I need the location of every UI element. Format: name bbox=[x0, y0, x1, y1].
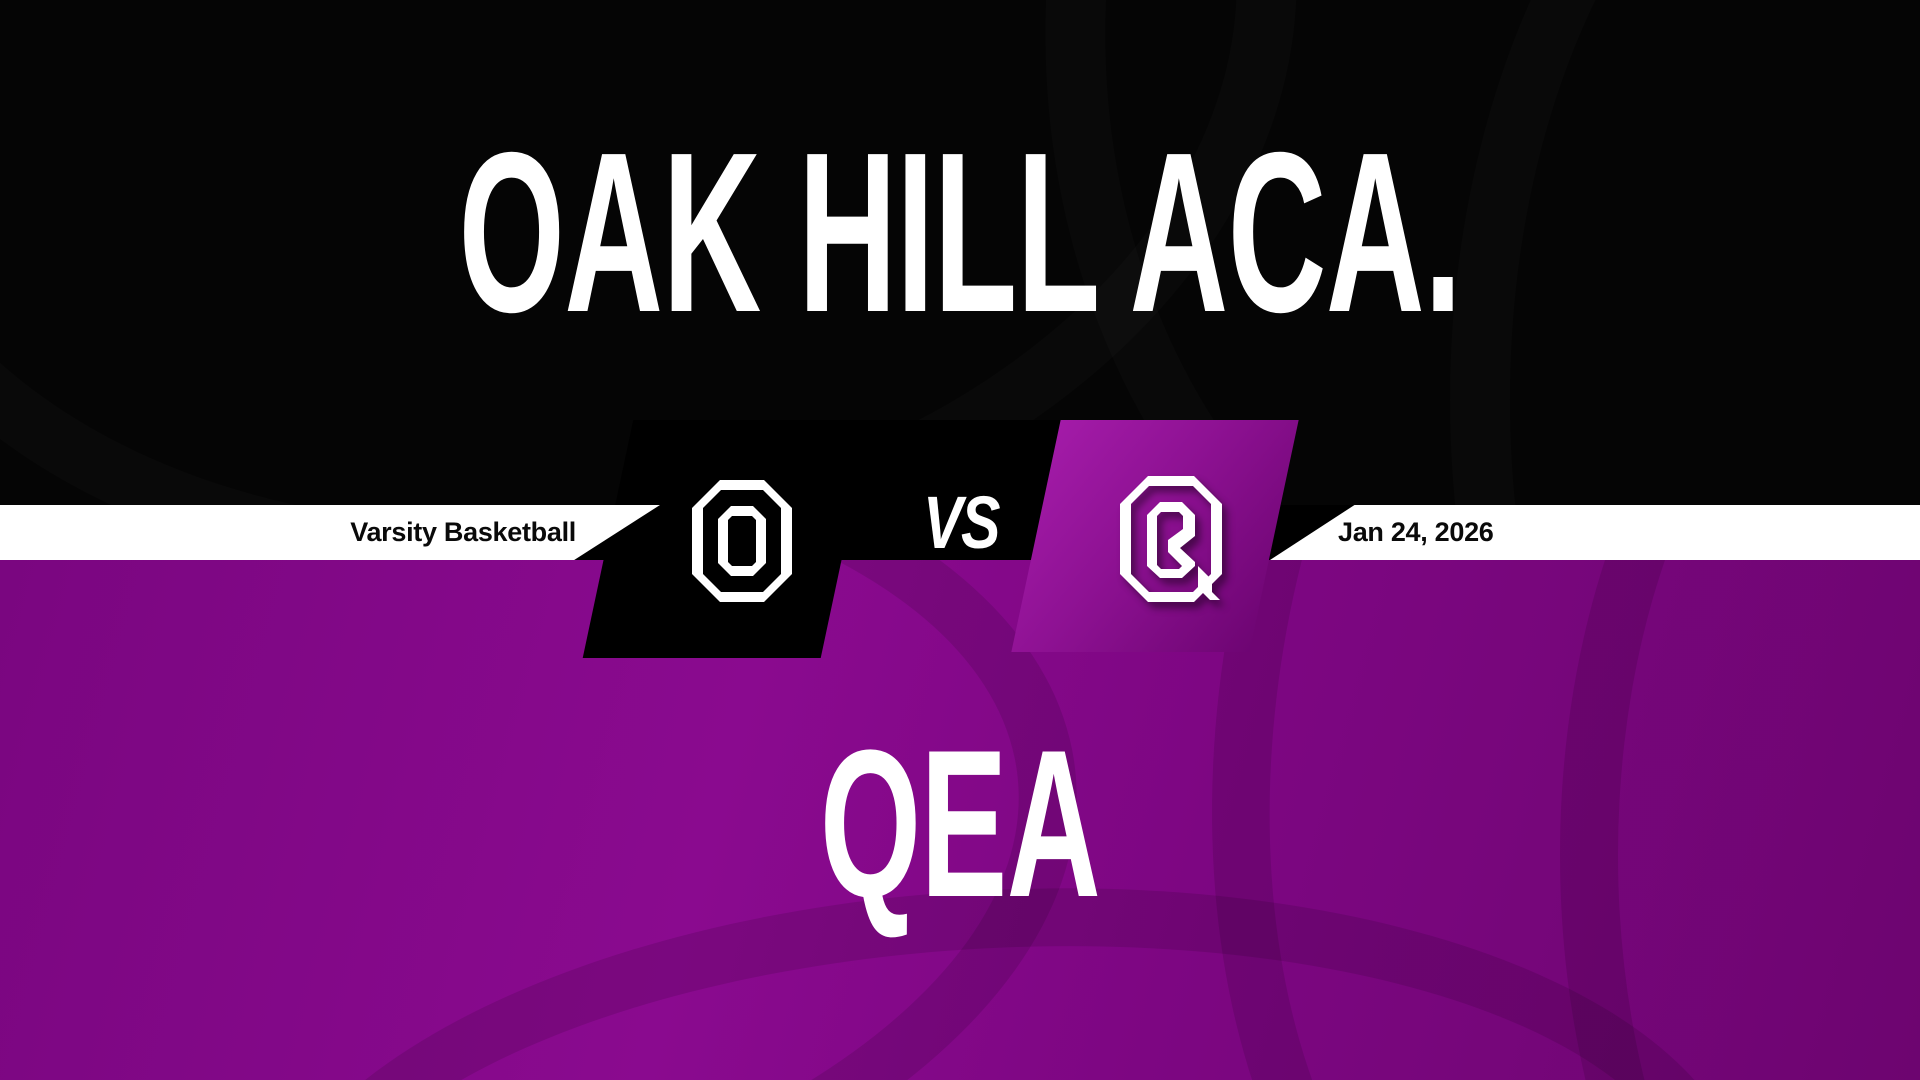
home-team-name: OAK HILL ACA. bbox=[384, 118, 1536, 348]
sport-label: Varsity Basketball bbox=[0, 505, 600, 560]
octagon-letter-o-icon bbox=[690, 478, 794, 604]
octagon-letter-q-icon bbox=[1116, 474, 1234, 606]
basketball-seam-icon bbox=[1560, 560, 1920, 1080]
away-team-name: QEA bbox=[365, 718, 1555, 930]
game-date-label: Jan 24, 2026 bbox=[1330, 505, 1920, 560]
matchup-graphic: OAK HILL ACA. QEA Varsity Basketball Jan… bbox=[0, 0, 1920, 1080]
versus-label: VS bbox=[909, 486, 1013, 560]
